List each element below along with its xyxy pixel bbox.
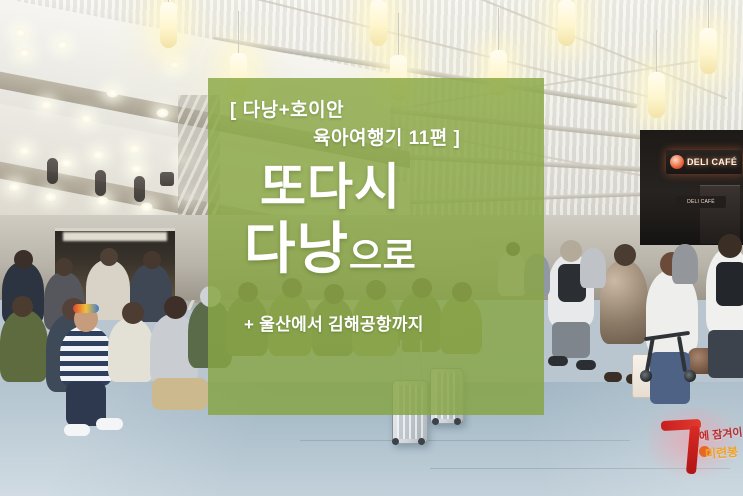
pendant-lamp — [370, 0, 387, 46]
recessed-downlight — [14, 28, 27, 38]
person-head — [12, 296, 33, 317]
recessed-downlight — [56, 40, 69, 50]
person-legs — [152, 378, 208, 410]
sneaker — [64, 424, 90, 436]
bracket-line-2: 육아여행기 11편 ] — [313, 123, 460, 150]
person — [672, 244, 698, 284]
recessed-downlight — [130, 164, 143, 174]
person-striped-shirt — [60, 326, 112, 386]
recessed-downlight — [40, 100, 53, 110]
recessed-downlight — [44, 192, 57, 202]
baby-stroller — [640, 330, 702, 388]
headband-cap — [73, 304, 99, 313]
wall-speaker — [160, 172, 174, 186]
suitcase-wheel — [432, 418, 439, 425]
pendant-lamp — [648, 72, 665, 118]
person-head — [143, 251, 161, 269]
subtitle: + 울산에서 김해공항까지 — [244, 310, 424, 335]
recessed-downlight — [92, 150, 105, 160]
shoe — [576, 360, 596, 370]
doorway-light — [63, 232, 167, 241]
person-head — [55, 258, 73, 276]
recessed-downlight — [168, 60, 181, 70]
shoe — [548, 356, 568, 366]
wall-speaker — [134, 176, 145, 202]
person — [0, 310, 48, 382]
backpack — [716, 262, 743, 306]
person-head — [614, 244, 636, 266]
stroller-frame — [677, 336, 687, 372]
sneaker — [96, 418, 123, 430]
pendant-lamp — [558, 0, 575, 46]
recessed-downlight — [18, 48, 31, 58]
stroller-frame — [645, 336, 655, 372]
wall-speaker — [47, 158, 58, 184]
title-block: [ 다낭+호이안 육아여행기 11편 ] 또다시 다낭으로 + 울산에서 김해공… — [208, 78, 544, 415]
recessed-downlight — [156, 108, 169, 118]
watermark-text-orange: 미련봉 — [704, 443, 738, 462]
deli-cafe-sign-small: DELI CAFÉ — [676, 196, 726, 208]
blog-watermark: 에 잠겨이 미련봉 — [655, 416, 743, 484]
screenshot-canvas: DELI CAFÉ DELI CAFÉ — [0, 0, 743, 496]
headline-suffix: 으로 — [349, 235, 416, 276]
coffee-cup-logo-icon — [670, 155, 684, 169]
stroller-wheel — [684, 370, 696, 382]
person-legs — [708, 330, 743, 378]
recessed-downlight — [140, 202, 153, 212]
recessed-downlight — [106, 88, 119, 98]
suitcase-wheel — [418, 438, 425, 445]
shoe — [604, 372, 622, 382]
stroller-wheel — [640, 370, 652, 382]
person-head — [164, 296, 187, 319]
recessed-downlight — [128, 144, 141, 154]
person — [108, 318, 154, 382]
headline-line-1: 또다시 — [260, 162, 401, 212]
giyeok-brush-icon — [661, 420, 701, 472]
person-head — [14, 250, 33, 269]
recessed-downlight — [60, 158, 73, 168]
suitcase-wheel — [454, 418, 461, 425]
person-head — [100, 248, 118, 266]
headline-line-2: 다낭으로 — [244, 221, 416, 277]
bracket-line-1: [ 다낭+호이안 — [230, 95, 344, 122]
recessed-downlight — [8, 182, 21, 192]
pendant-lamp — [160, 2, 177, 48]
suitcase-wheel — [392, 438, 399, 445]
deli-cafe-sign-small-text: DELI CAFÉ — [687, 199, 715, 205]
person-legs — [552, 322, 590, 358]
wall-speaker — [95, 170, 106, 196]
floor-seam — [300, 440, 630, 441]
recessed-downlight — [18, 146, 31, 156]
deli-cafe-sign: DELI CAFÉ — [666, 150, 742, 174]
recessed-downlight — [96, 196, 109, 206]
recessed-downlight — [80, 114, 93, 124]
deli-cafe-sign-text: DELI CAFÉ — [687, 157, 737, 167]
person — [580, 248, 606, 288]
person-head — [718, 234, 742, 258]
person-head — [560, 240, 582, 262]
headline-main: 다낭 — [244, 217, 349, 280]
person-head — [122, 302, 144, 324]
pendant-lamp — [700, 28, 717, 74]
